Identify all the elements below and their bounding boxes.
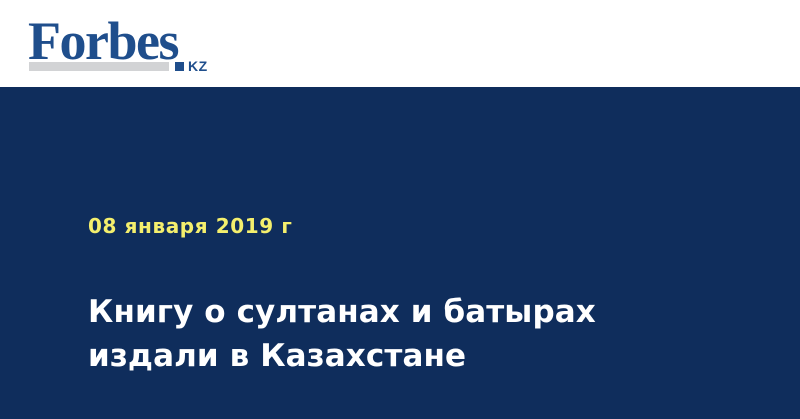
logo-country-suffix: KZ	[188, 59, 208, 73]
blue-square-icon	[175, 62, 184, 71]
gray-rule-icon	[29, 62, 169, 71]
forbes-kz-logo[interactable]: Forbes KZ	[28, 14, 218, 76]
logo-wordmark: Forbes	[28, 14, 178, 68]
article-hero-banner: 08 января 2019 г Книгу о султанах и баты…	[0, 87, 800, 419]
article-publish-date: 08 января 2019 г	[88, 214, 292, 238]
article-headline: Книгу о султанах и батырах издали в Каза…	[88, 290, 688, 378]
site-header: Forbes KZ	[0, 0, 800, 87]
article-hero-page: Forbes KZ 08 января 2019 г Книгу о султа…	[0, 0, 800, 419]
